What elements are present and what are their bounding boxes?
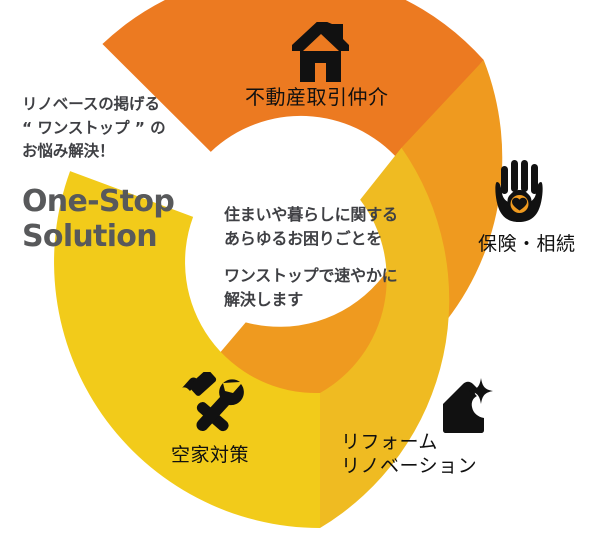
segment-label-reform: リフォーム リノベーション <box>341 430 477 479</box>
center-paragraph-2: ワンストップで速やかに 解決します <box>224 264 439 312</box>
segment-label-vacant-house: 空家対策 <box>171 443 249 467</box>
lead-copy: リノベースの掲げる “ ワンストップ ” の お悩み解決！ <box>22 93 218 164</box>
infographic-canvas: 不動産取引仲介 保険・相続 リフォーム リノベーション 空家対策 リノベースの掲… <box>0 0 600 533</box>
center-paragraph-1: 住まいや暮らしに関する あらゆるお困りごとを <box>224 203 439 251</box>
hammer-wrench-icon <box>180 372 246 432</box>
house-sparkle-icon <box>437 378 497 434</box>
center-text-block: 住まいや暮らしに関する あらゆるお困りごとを ワンストップで速やかに 解決します <box>224 203 439 312</box>
page-title: One-Stop Solution <box>22 184 218 254</box>
house-icon <box>287 22 355 84</box>
segment-label-insurance: 保険・相続 <box>478 232 576 256</box>
hand-heart-icon <box>495 160 551 222</box>
left-text-block: リノベースの掲げる “ ワンストップ ” の お悩み解決！ One-Stop S… <box>22 93 218 254</box>
segment-label-real-estate: 不動産取引仲介 <box>245 85 389 111</box>
